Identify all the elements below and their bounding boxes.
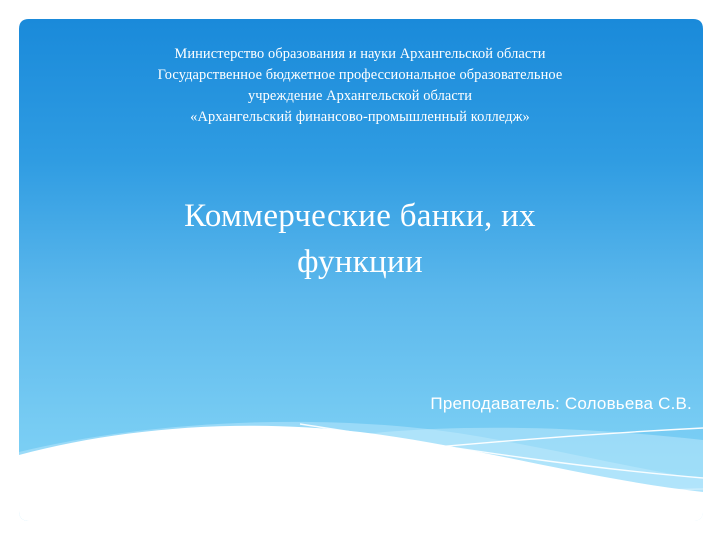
page-title: Коммерческие банки, их функции [100,193,620,285]
organization-line-2: Государственное бюджетное профессиональн… [60,65,660,86]
organization-line-3: учреждение Архангельской области [60,86,660,107]
organization-line-1: Министерство образования и науки Арханге… [60,44,660,65]
presenter-credit: Преподаватель: Соловьева С.В. [300,393,692,415]
organization-line-4: «Архангельский финансово-промышленный ко… [60,107,660,128]
title-slide: Министерство образования и науки Арханге… [0,0,720,540]
slide-text-layer: Министерство образования и науки Арханге… [0,0,720,540]
page-title-line-1: Коммерческие банки, их [100,193,620,239]
organization-heading: Министерство образования и науки Арханге… [60,44,660,128]
page-title-line-2: функции [100,239,620,285]
